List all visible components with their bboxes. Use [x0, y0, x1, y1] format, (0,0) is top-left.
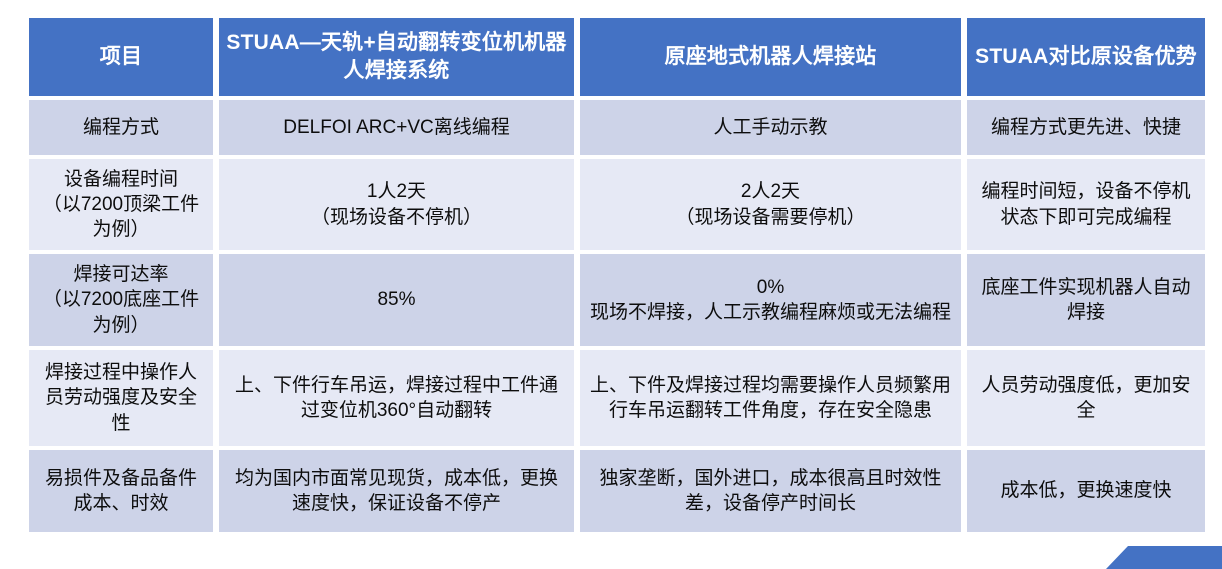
- row-label-cell: 焊接可达率（以7200底座工件为例）: [29, 254, 213, 346]
- row-original-cell: 上、下件及焊接过程均需要操作人员频繁用行车吊运翻转工件角度，存在安全隐患: [580, 350, 961, 446]
- table-row: 焊接可达率（以7200底座工件为例） 85% 0%现场不焊接，人工示教编程麻烦或…: [29, 254, 1205, 346]
- row-stuaa-cell: DELFOI ARC+VC离线编程: [219, 100, 574, 155]
- row-original-cell: 2人2天（现场设备需要停机）: [580, 159, 961, 250]
- row-original-cell: 独家垄断，国外进口，成本很高且时效性差，设备停产时间长: [580, 450, 961, 532]
- row-advantage-cell: 成本低，更换速度快: [967, 450, 1205, 532]
- row-label-cell: 焊接过程中操作人员劳动强度及安全性: [29, 350, 213, 446]
- header-row: 项目 STUAA—天轨+自动翻转变位机机器人焊接系统 原座地式机器人焊接站 ST…: [29, 18, 1205, 96]
- table-body: 编程方式 DELFOI ARC+VC离线编程 人工手动示教 编程方式更先进、快捷…: [29, 100, 1205, 532]
- column-header-item: 项目: [29, 18, 213, 96]
- table-row: 焊接过程中操作人员劳动强度及安全性 上、下件行车吊运，焊接过程中工件通过变位机3…: [29, 350, 1205, 446]
- table-header: 项目 STUAA—天轨+自动翻转变位机机器人焊接系统 原座地式机器人焊接站 ST…: [29, 18, 1205, 96]
- row-stuaa-cell: 上、下件行车吊运，焊接过程中工件通过变位机360°自动翻转: [219, 350, 574, 446]
- row-advantage-cell: 编程时间短，设备不停机状态下即可完成编程: [967, 159, 1205, 250]
- row-advantage-cell: 人员劳动强度低，更加安全: [967, 350, 1205, 446]
- column-header-advantage: STUAA对比原设备优势: [967, 18, 1205, 96]
- corner-accent-shape: [1084, 546, 1222, 569]
- row-stuaa-cell: 1人2天（现场设备不停机）: [219, 159, 574, 250]
- row-stuaa-cell: 均为国内市面常见现货，成本低，更换速度快，保证设备不停产: [219, 450, 574, 532]
- row-label-cell: 编程方式: [29, 100, 213, 155]
- comparison-table: 项目 STUAA—天轨+自动翻转变位机机器人焊接系统 原座地式机器人焊接站 ST…: [23, 14, 1211, 536]
- table-row: 易损件及备品备件成本、时效 均为国内市面常见现货，成本低，更换速度快，保证设备不…: [29, 450, 1205, 532]
- table-row: 设备编程时间（以7200顶梁工件为例） 1人2天（现场设备不停机） 2人2天（现…: [29, 159, 1205, 250]
- row-original-cell: 0%现场不焊接，人工示教编程麻烦或无法编程: [580, 254, 961, 346]
- row-stuaa-cell: 85%: [219, 254, 574, 346]
- row-label-cell: 易损件及备品备件成本、时效: [29, 450, 213, 532]
- column-header-stuaa: STUAA—天轨+自动翻转变位机机器人焊接系统: [219, 18, 574, 96]
- row-label-cell: 设备编程时间（以7200顶梁工件为例）: [29, 159, 213, 250]
- row-advantage-cell: 编程方式更先进、快捷: [967, 100, 1205, 155]
- slide-canvas: 项目 STUAA—天轨+自动翻转变位机机器人焊接系统 原座地式机器人焊接站 ST…: [0, 0, 1222, 569]
- table-row: 编程方式 DELFOI ARC+VC离线编程 人工手动示教 编程方式更先进、快捷: [29, 100, 1205, 155]
- row-advantage-cell: 底座工件实现机器人自动焊接: [967, 254, 1205, 346]
- row-original-cell: 人工手动示教: [580, 100, 961, 155]
- column-header-original: 原座地式机器人焊接站: [580, 18, 961, 96]
